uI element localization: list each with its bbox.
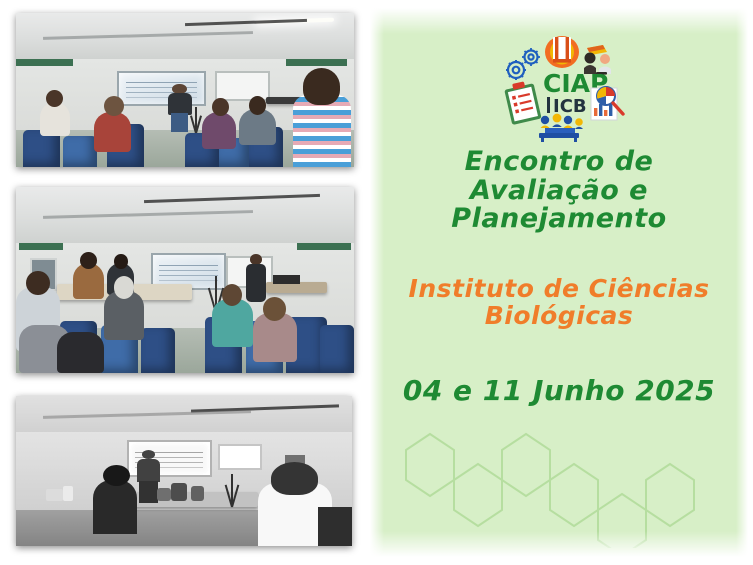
meeting-table-people-icon [539, 114, 583, 142]
event-title-line-2: Avaliação e [370, 177, 748, 206]
hexagon-3 [502, 434, 550, 496]
gears-icon [506, 48, 540, 80]
panel-fade-top [370, 8, 748, 34]
magnifier-chart-icon [591, 87, 623, 120]
event-title-line-3: Planejamento [370, 205, 748, 234]
hexagon-4 [550, 464, 598, 526]
panel-fade-bottom [370, 531, 748, 557]
poster-canvas: CIAP ICB [0, 0, 753, 565]
institute-subtitle: Instituto de Ciências Biológicas [370, 276, 748, 329]
institute-subtitle-line-1: Instituto de Ciências [370, 276, 748, 303]
event-title-line-1: Encontro de [370, 148, 748, 177]
hexagon-6 [646, 464, 694, 526]
book-icon [545, 36, 579, 68]
institute-subtitle-line-2: Biológicas [370, 303, 748, 330]
green-content-panel: CIAP ICB [370, 8, 748, 557]
clipboard-checklist-icon [503, 79, 541, 125]
panel-fade-left [370, 8, 384, 557]
event-title: Encontro de Avaliação e Planejamento [370, 148, 748, 234]
ciap-icb-logo: CIAP ICB [495, 30, 640, 142]
hexagon-honeycomb-pattern [392, 418, 732, 548]
hexagon-1 [406, 434, 454, 496]
hexagon-2 [454, 464, 502, 526]
photo-classroom-wide [16, 187, 354, 373]
panel-fade-right [736, 8, 748, 557]
event-date: 04 e 11 Junho 2025 [370, 376, 748, 406]
photo-lab-session [16, 396, 352, 546]
photo-lecture-presenter [16, 13, 354, 167]
